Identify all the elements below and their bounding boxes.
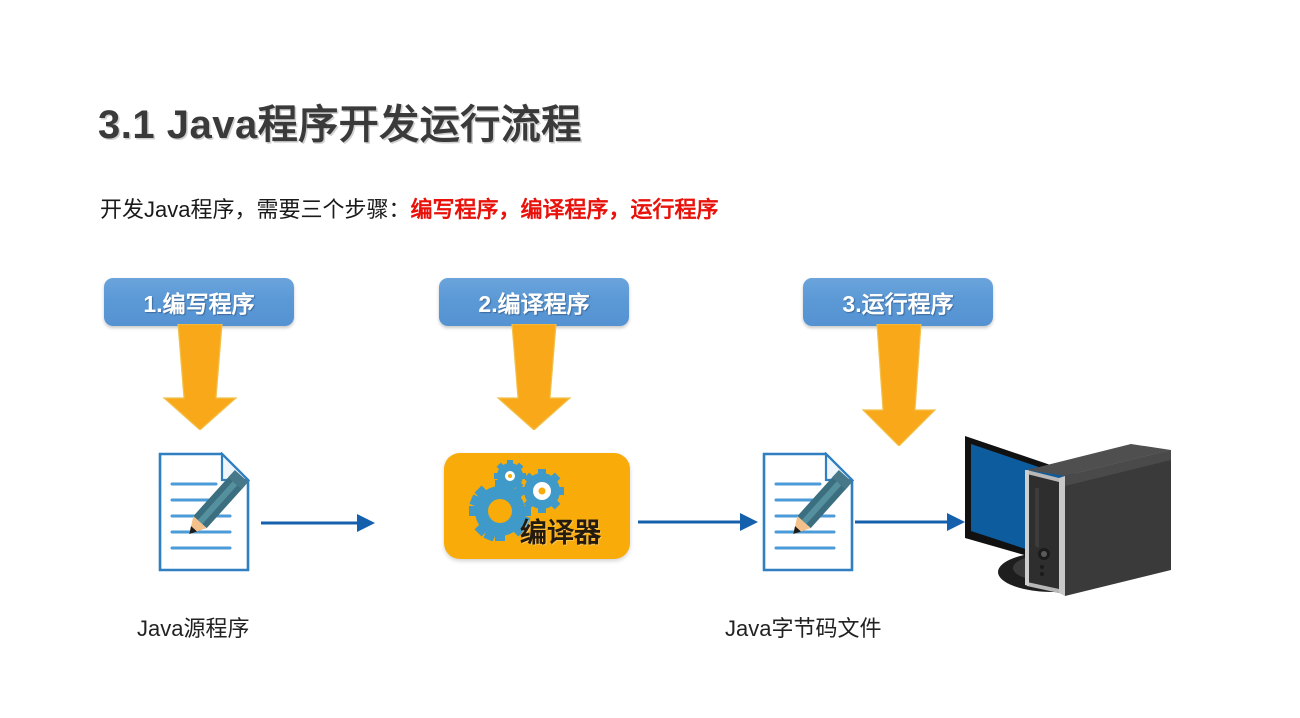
page-title: 3.1 Java程序开发运行流程 — [98, 92, 582, 150]
document-pencil-icon — [158, 452, 250, 572]
orange-down-arrow-icon — [496, 324, 572, 430]
slide-canvas: 3.1 Java程序开发运行流程 开发Java程序，需要三个步骤：编写程序，编译… — [0, 0, 1300, 718]
caption-java-source: Java源程序 — [137, 611, 249, 643]
subtitle-highlight: 编写程序，编译程序，运行程序 — [410, 197, 718, 222]
step-box-label: 3.运行程序 — [842, 285, 953, 319]
orange-down-arrow-icon — [861, 324, 937, 446]
step-box-write-program[interactable]: 1.编写程序 — [104, 278, 294, 326]
blue-right-arrow-icon — [638, 508, 760, 536]
document-pencil-icon — [762, 452, 854, 572]
desktop-computer-icon — [955, 430, 1175, 605]
step-box-label: 1.编写程序 — [143, 285, 254, 319]
step-box-compile-program[interactable]: 2.编译程序 — [439, 278, 629, 326]
orange-down-arrow-icon — [162, 324, 238, 430]
blue-right-arrow-icon — [855, 508, 967, 536]
subtitle-lead: 开发Java程序，需要三个步骤： — [100, 197, 410, 222]
caption-java-bytecode: Java字节码文件 — [725, 611, 881, 643]
compiler-box: 编译器 — [444, 453, 630, 559]
step-box-label: 2.编译程序 — [478, 285, 589, 319]
compiler-label: 编译器 — [520, 511, 601, 550]
step-box-run-program[interactable]: 3.运行程序 — [803, 278, 993, 326]
subtitle: 开发Java程序，需要三个步骤：编写程序，编译程序，运行程序 — [100, 192, 719, 224]
blue-right-arrow-icon — [261, 509, 377, 537]
